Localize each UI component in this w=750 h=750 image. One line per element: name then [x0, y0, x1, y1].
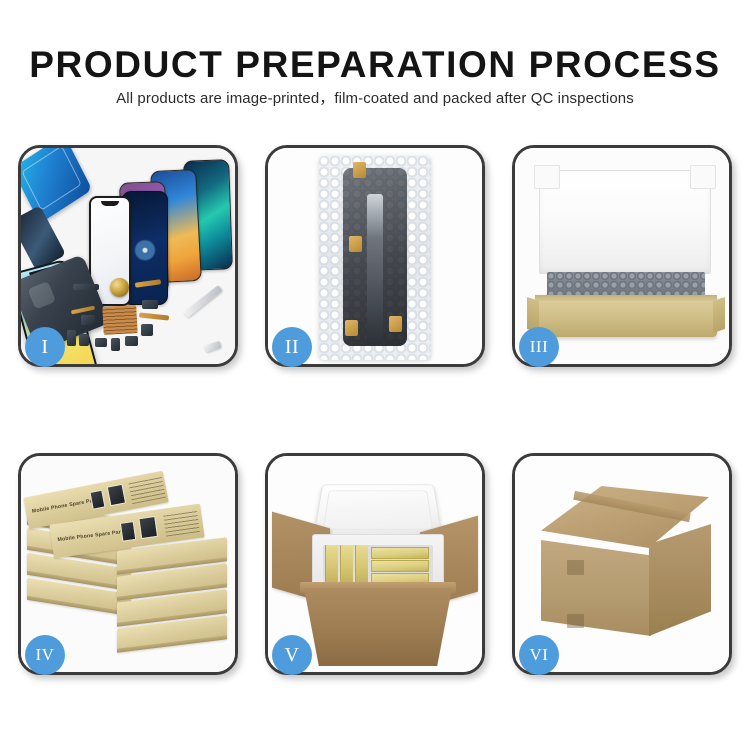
process-step-3: III [512, 145, 732, 367]
box-window-graphic [138, 516, 158, 539]
page-title: PRODUCT PREPARATION PROCESS [0, 44, 750, 86]
step-badge-2: II [272, 327, 312, 367]
box-window-graphic [107, 484, 127, 507]
logic-board-part [102, 305, 137, 335]
page-subtitle: All products are image-printed，film-coat… [0, 87, 750, 108]
tape-strip [349, 236, 362, 252]
carton-side-face [649, 524, 711, 636]
process-step-grid: I II [18, 145, 732, 680]
box-spec-lines [163, 510, 200, 537]
step-badge-1: I [25, 327, 65, 367]
speaker-part [110, 278, 129, 297]
chip-part [81, 315, 95, 325]
chip-part [142, 300, 158, 309]
chip-part [95, 338, 107, 347]
process-step-1: I [18, 145, 238, 367]
box-spec-lines [128, 476, 166, 504]
bubble-wrap-bag [319, 156, 431, 360]
styrofoam-lid [313, 485, 443, 538]
tweezers-tool [184, 285, 223, 318]
kraft-tray-right-side [713, 297, 725, 333]
chip-part [73, 284, 99, 290]
tape-strip [345, 320, 358, 336]
step-badge-3: III [519, 327, 559, 367]
step-badge-4: IV [25, 635, 65, 675]
box-window-graphic [120, 521, 137, 542]
product-preparation-infographic: PRODUCT PREPARATION PROCESS All products… [0, 0, 750, 750]
white-foam-lid [539, 170, 711, 274]
chip-part [67, 330, 76, 346]
carton-body [304, 588, 452, 666]
carton-front-face [541, 540, 651, 636]
process-step-5: V [265, 453, 485, 675]
chip-part [141, 324, 153, 336]
header: PRODUCT PREPARATION PROCESS All products… [0, 0, 750, 128]
carton-hand-hole [567, 560, 584, 575]
step-badge-6: VI [519, 635, 559, 675]
box-window-graphic [89, 490, 105, 510]
screw-part [204, 341, 221, 353]
packed-box-item [371, 547, 429, 559]
part-flex-strip [367, 194, 383, 344]
chip-part [111, 338, 120, 351]
kraft-box-tray [535, 295, 717, 337]
carton-hand-hole [567, 614, 584, 628]
process-step-4: Mobile Phone Spare Parts Mobile Phone Sp… [18, 453, 238, 675]
tape-strip [389, 316, 402, 332]
process-step-6: VI [512, 453, 732, 675]
chip-part [125, 336, 138, 346]
box-label-text: Mobile Phone Spare Parts [57, 529, 126, 543]
flex-cable-part [139, 312, 169, 320]
packed-box-item [371, 560, 429, 572]
chip-part [79, 334, 89, 346]
process-step-2: II [265, 145, 485, 367]
step-badge-5: V [272, 635, 312, 675]
tape-strip [353, 162, 366, 178]
